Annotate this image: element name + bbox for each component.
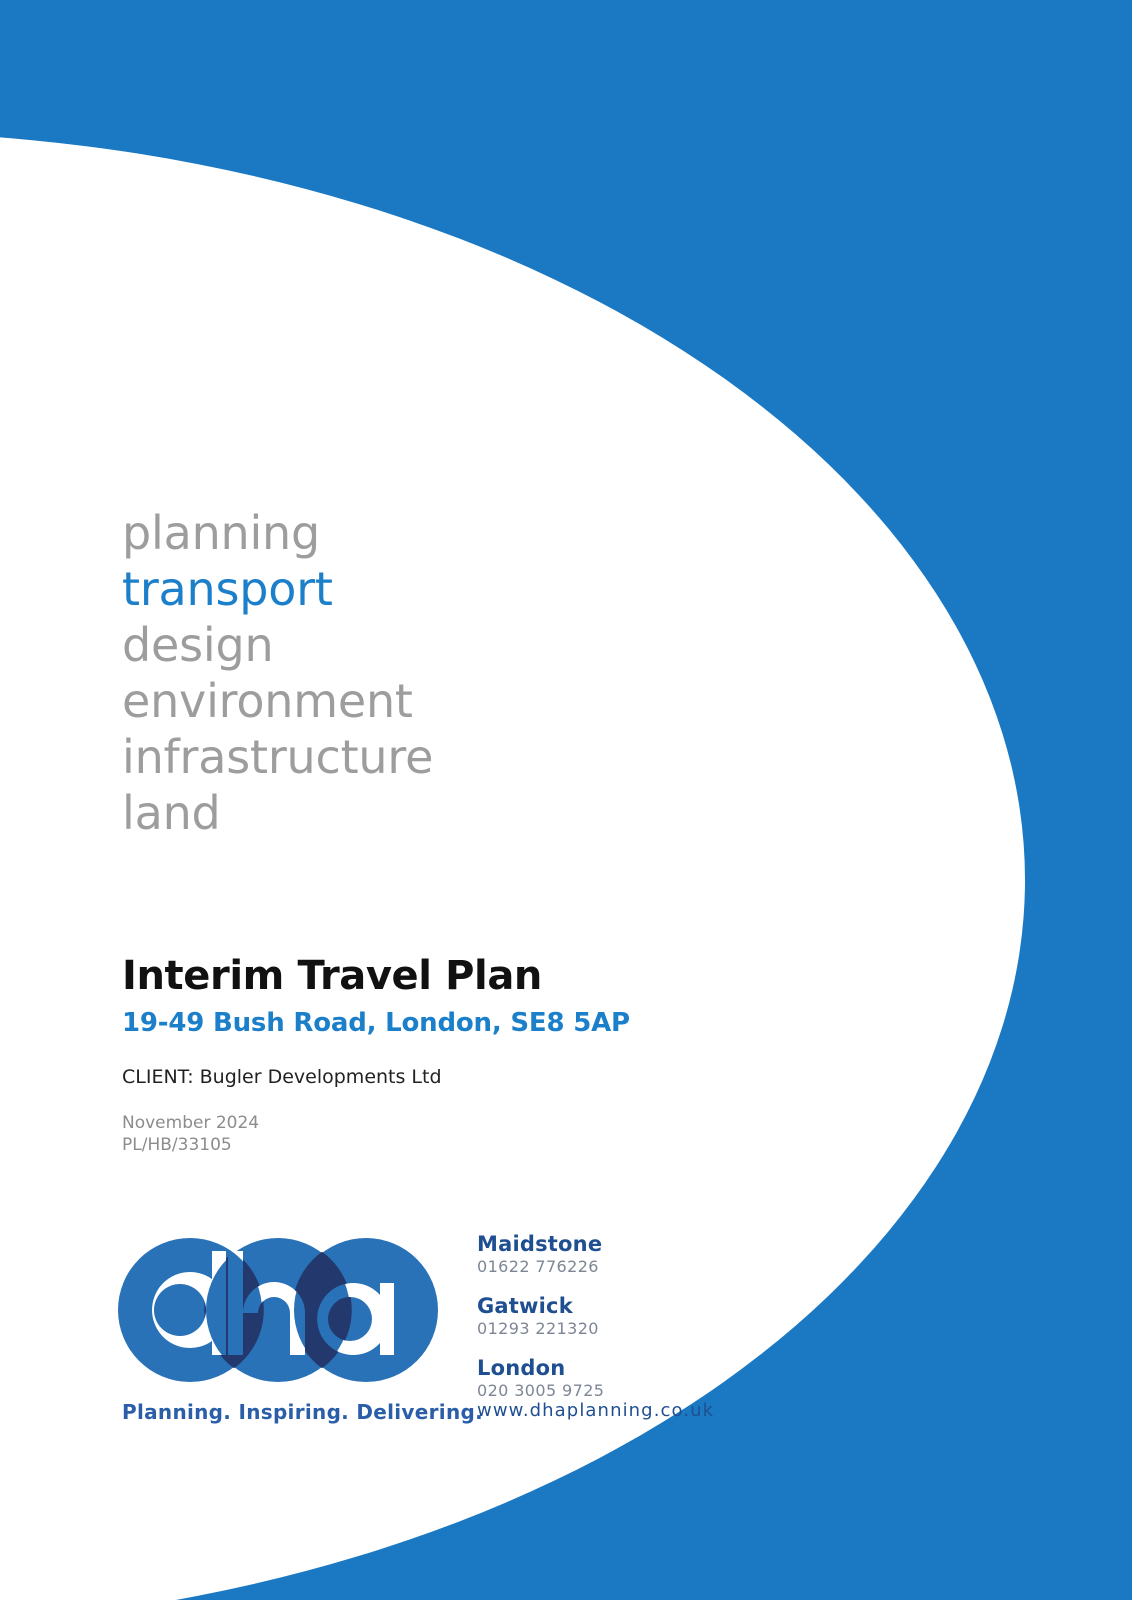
office-maidstone: Maidstone 01622 776226 [477, 1232, 777, 1277]
document-reference: PL/HB/33105 [122, 1134, 902, 1156]
office-gatwick: Gatwick 01293 221320 [477, 1294, 777, 1339]
client-line: CLIENT: Bugler Developments Ltd [122, 1064, 902, 1090]
brand-tagline: Planning. Inspiring. Delivering. [122, 1400, 483, 1424]
document-meta: November 2024 PL/HB/33105 [122, 1112, 902, 1156]
service-item-land: land [122, 785, 642, 841]
office-phone[interactable]: 020 3005 9725 [477, 1381, 777, 1401]
website-link[interactable]: www.dhaplanning.co.uk [477, 1400, 714, 1421]
document-subtitle: 19-49 Bush Road, London, SE8 5AP [122, 1004, 902, 1042]
services-list: planning transport design environment in… [122, 505, 642, 841]
office-name: London [477, 1356, 777, 1381]
service-item-environment: environment [122, 673, 642, 729]
logo-circles [118, 1238, 438, 1382]
service-item-transport: transport [122, 561, 642, 617]
office-name: Maidstone [477, 1232, 777, 1257]
title-block: Interim Travel Plan 19-49 Bush Road, Lon… [122, 952, 902, 1156]
office-name: Gatwick [477, 1294, 777, 1319]
service-item-infrastructure: infrastructure [122, 729, 642, 785]
document-title: Interim Travel Plan [122, 952, 902, 1000]
service-item-design: design [122, 617, 642, 673]
office-phone[interactable]: 01293 221320 [477, 1319, 777, 1339]
service-item-planning: planning [122, 505, 642, 561]
dha-logo [118, 1235, 438, 1385]
office-phone[interactable]: 01622 776226 [477, 1257, 777, 1277]
document-date: November 2024 [122, 1112, 902, 1134]
office-contacts: Maidstone 01622 776226 Gatwick 01293 221… [477, 1232, 777, 1418]
document-cover-page: planning transport design environment in… [0, 0, 1132, 1600]
dha-logo-mark [118, 1235, 438, 1385]
office-london: London 020 3005 9725 [477, 1356, 777, 1401]
